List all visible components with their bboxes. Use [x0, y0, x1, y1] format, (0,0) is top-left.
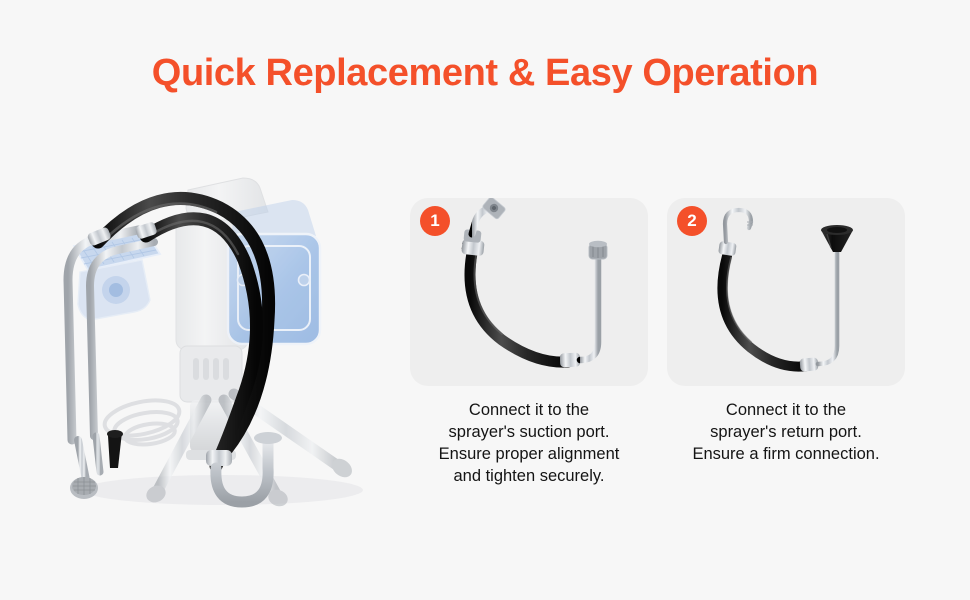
step-2-caption: Connect it to the sprayer's return port.…	[667, 400, 905, 466]
step-card-2: 2	[667, 198, 905, 466]
caption-line: sprayer's return port.	[667, 422, 905, 444]
caption-line: Connect it to the	[410, 400, 648, 422]
caption-line: Ensure proper alignment	[410, 444, 648, 466]
step-1-number-badge: 1	[420, 206, 450, 236]
hero-product-image	[38, 150, 398, 520]
caption-line: sprayer's suction port.	[410, 422, 648, 444]
steps-container: 1	[410, 198, 930, 508]
step-2-number-badge: 2	[677, 206, 707, 236]
step-1-caption: Connect it to the sprayer's suction port…	[410, 400, 648, 488]
step-2-image-card: 2	[667, 198, 905, 386]
step-1-image-card: 1	[410, 198, 648, 386]
caption-line: Ensure a firm connection.	[667, 444, 905, 466]
caption-line: and tighten securely.	[410, 466, 648, 488]
caption-line: Connect it to the	[667, 400, 905, 422]
step-card-1: 1	[410, 198, 648, 488]
infographic-page: Quick Replacement & Easy Operation	[0, 0, 970, 600]
page-title: Quick Replacement & Easy Operation	[0, 52, 970, 95]
